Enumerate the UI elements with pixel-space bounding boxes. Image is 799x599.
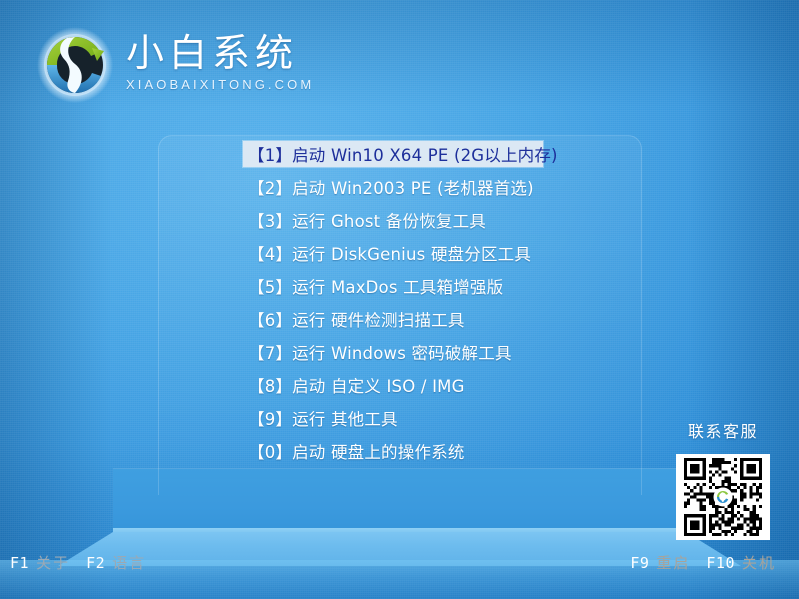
menu-item-3[interactable]: 【3】运行 Ghost 备份恢复工具 — [243, 207, 563, 233]
footer-key-f1: F1 — [10, 554, 29, 572]
footer-right-hints: F9重启F10关机 — [630, 552, 785, 573]
menu-item-label: 【4】运行 DiskGenius 硬盘分区工具 — [248, 241, 531, 265]
footer-label-f10: 关机 — [742, 552, 776, 573]
menu-item-label: 【0】启动 硬盘上的操作系统 — [248, 439, 465, 463]
recycle-circle-logo-icon — [714, 488, 733, 507]
brand-subtitle: XIAOBAIXITONG.COM — [126, 77, 314, 92]
menu-item-2[interactable]: 【2】启动 Win2003 PE (老机器首选) — [243, 174, 563, 200]
menu-item-9[interactable]: 【9】运行 其他工具 — [243, 405, 563, 431]
footer-label-f1: 关于 — [36, 552, 70, 573]
menu-item-4[interactable]: 【4】运行 DiskGenius 硬盘分区工具 — [243, 240, 563, 266]
menu-item-7[interactable]: 【7】运行 Windows 密码破解工具 — [243, 339, 563, 365]
footer-label-f2: 语言 — [112, 552, 146, 573]
recycle-circle-logo-icon — [34, 24, 116, 106]
menu-item-label: 【3】运行 Ghost 备份恢复工具 — [248, 208, 486, 232]
boot-menu-list[interactable]: 【1】启动 Win10 X64 PE (2G以上内存)【2】启动 Win2003… — [243, 141, 563, 471]
menu-item-label: 【8】启动 自定义 ISO / IMG — [248, 373, 465, 397]
qr-code-icon[interactable] — [676, 454, 770, 540]
support-label: 联系客服 — [664, 418, 782, 442]
menu-item-1[interactable]: 【1】启动 Win10 X64 PE (2G以上内存) — [243, 141, 543, 167]
footer-left-hints: F1关于F2语言 — [10, 552, 155, 573]
brand-title: 小白系统 — [126, 34, 314, 74]
menu-item-label: 【2】启动 Win2003 PE (老机器首选) — [248, 175, 534, 199]
menu-item-label: 【1】启动 Win10 X64 PE (2G以上内存) — [248, 142, 558, 166]
footer-key-f9: F9 — [630, 554, 649, 572]
footer-label-f9: 重启 — [656, 552, 690, 573]
menu-item-label: 【5】运行 MaxDos 工具箱增强版 — [248, 274, 503, 298]
brand-logo: 小白系统 XIAOBAIXITONG.COM — [34, 24, 314, 106]
menu-item-label: 【9】运行 其他工具 — [248, 406, 398, 430]
menu-item-6[interactable]: 【6】运行 硬件检测扫描工具 — [243, 306, 563, 332]
menu-item-label: 【6】运行 硬件检测扫描工具 — [248, 307, 465, 331]
menu-item-label: 【7】运行 Windows 密码破解工具 — [248, 340, 512, 364]
customer-support-block: 联系客服 — [664, 418, 782, 540]
brand-text: 小白系统 XIAOBAIXITONG.COM — [126, 34, 314, 93]
menu-item-10[interactable]: 【0】启动 硬盘上的操作系统 — [243, 438, 563, 464]
menu-item-5[interactable]: 【5】运行 MaxDos 工具箱增强版 — [243, 273, 563, 299]
menu-item-8[interactable]: 【8】启动 自定义 ISO / IMG — [243, 372, 563, 398]
footer-key-f2: F2 — [86, 554, 105, 572]
footer-key-f10: F10 — [706, 554, 735, 572]
